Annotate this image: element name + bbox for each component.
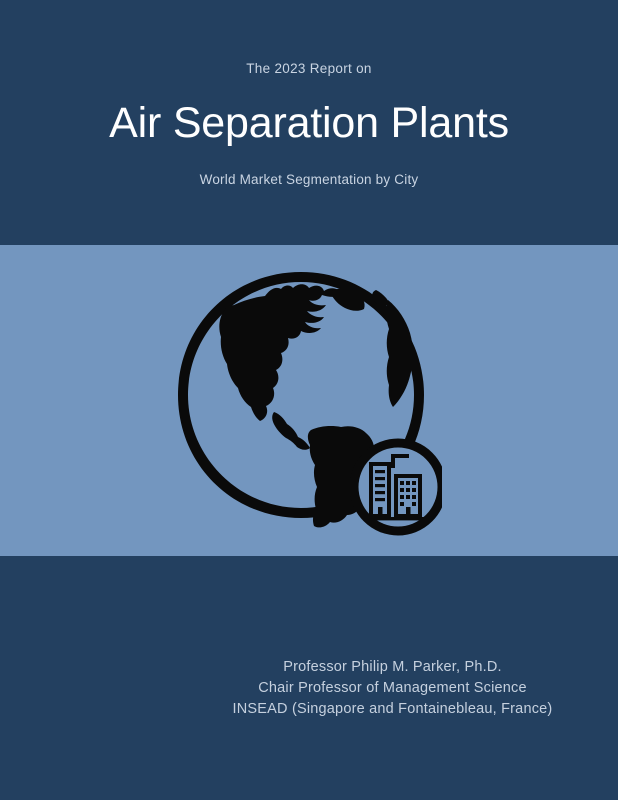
city-buildings-icon (354, 443, 442, 531)
report-eyebrow: The 2023 Report on (0, 60, 618, 78)
globe-americas-icon (170, 264, 442, 536)
book-cover: The 2023 Report on Air Separation Plants… (0, 0, 618, 800)
author-affiliation: INSEAD (Singapore and Fontainebleau, Fra… (230, 699, 555, 720)
cover-artwork (170, 264, 442, 536)
author-name: Professor Philip M. Parker, Ph.D. (230, 657, 555, 678)
page-title: Air Separation Plants (0, 97, 618, 149)
author-position: Chair Professor of Management Science (230, 678, 555, 699)
page-subtitle: World Market Segmentation by City (0, 171, 618, 189)
author-credits: Professor Philip M. Parker, Ph.D. Chair … (230, 657, 555, 720)
